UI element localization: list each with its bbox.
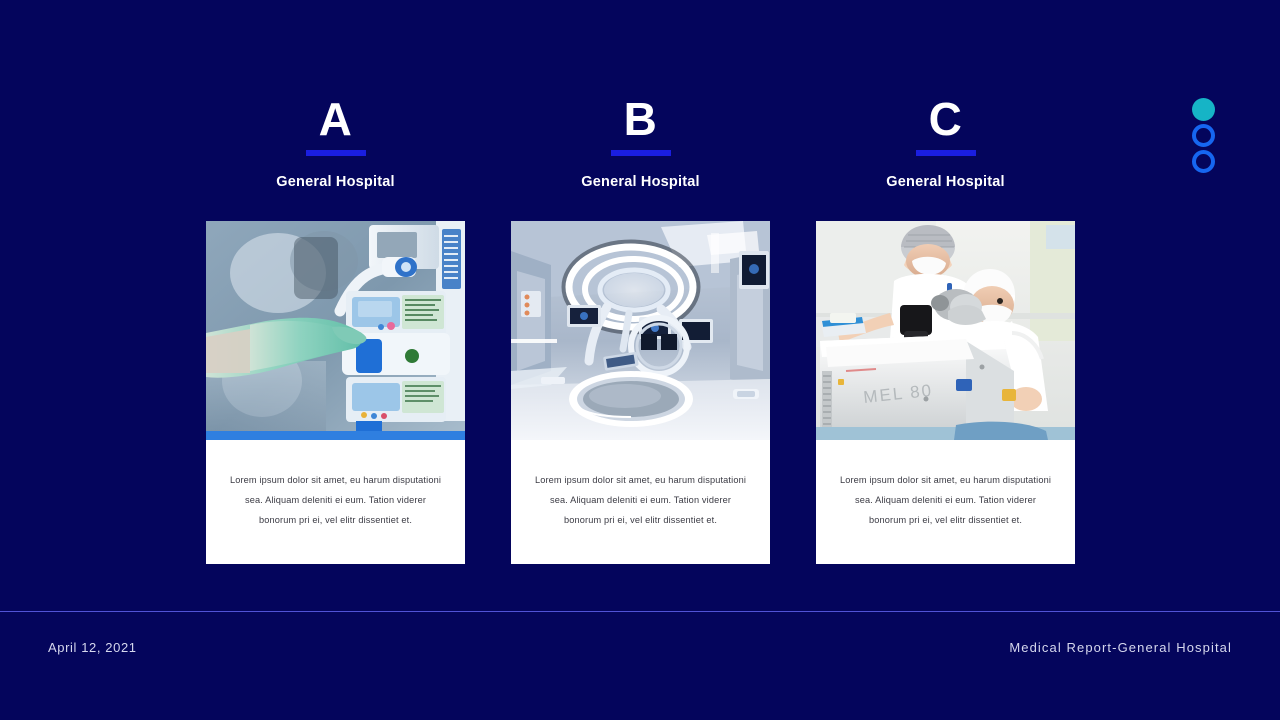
card-subtitle: General Hospital [206, 174, 465, 190]
card-subtitle: General Hospital [511, 174, 770, 190]
card-c[interactable]: C General Hospital [816, 92, 1075, 564]
dot-2-icon[interactable] [1192, 124, 1215, 147]
card-underline-rule [916, 150, 976, 156]
footer-divider [0, 611, 1280, 612]
card-description: Lorem ipsum dolor sit amet, eu harum dis… [206, 440, 465, 564]
card-underline-rule [306, 150, 366, 156]
card-body: MEL 80 [816, 221, 1075, 564]
dot-1-active-icon[interactable] [1192, 98, 1215, 121]
slide-root: A General Hospital [0, 0, 1280, 720]
card-body: Lorem ipsum dolor sit amet, eu harum dis… [511, 221, 770, 564]
card-underline-rule [611, 150, 671, 156]
footer-title: Medical Report-General Hospital [1009, 640, 1232, 655]
card-letter: A [206, 92, 465, 146]
card-letter: B [511, 92, 770, 146]
photo-surgeons-laser-mel-80: MEL 80 [816, 221, 1075, 440]
card-letter: C [816, 92, 1075, 146]
card-description: Lorem ipsum dolor sit amet, eu harum dis… [816, 440, 1075, 564]
footer-date: April 12, 2021 [48, 640, 137, 655]
dot-3-icon[interactable] [1192, 150, 1215, 173]
pagination-dots[interactable] [1192, 98, 1215, 173]
card-description: Lorem ipsum dolor sit amet, eu harum dis… [511, 440, 770, 564]
card-a[interactable]: A General Hospital [206, 92, 465, 564]
footer: April 12, 2021 Medical Report-General Ho… [0, 640, 1280, 655]
cards-row: A General Hospital [0, 0, 1280, 600]
photo-futuristic-operating-room [511, 221, 770, 440]
card-b[interactable]: B General Hospital [511, 92, 770, 564]
card-subtitle: General Hospital [816, 174, 1075, 190]
card-body: Lorem ipsum dolor sit amet, eu harum dis… [206, 221, 465, 564]
photo-infusion-pump-gloved-hand [206, 221, 465, 440]
